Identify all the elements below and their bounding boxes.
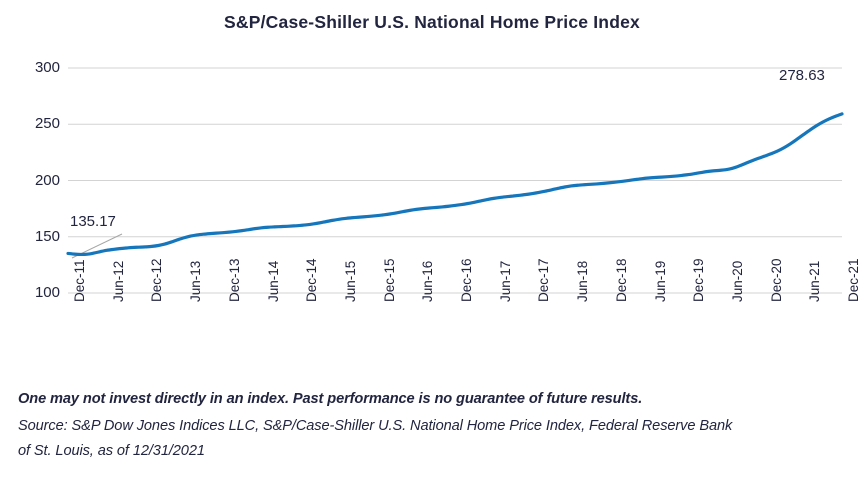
x-axis-tick-label: Dec-17 <box>537 258 551 302</box>
x-axis-tick-label: Jun-13 <box>189 261 203 302</box>
x-axis-tick-label: Dec-12 <box>150 258 164 302</box>
chart-plot-area <box>0 0 864 480</box>
x-axis-tick-label: Dec-11 <box>73 259 87 302</box>
x-axis-tick-label: Jun-18 <box>576 261 590 302</box>
y-axis-tick-label: 150 <box>14 229 60 244</box>
y-axis-tick-label: 200 <box>14 173 60 188</box>
x-axis-tick-label: Jun-20 <box>731 261 745 302</box>
x-axis-tick-label: Jun-14 <box>267 261 281 302</box>
source-text-line-1: Source: S&P Dow Jones Indices LLC, S&P/C… <box>18 418 732 434</box>
source-text-line-2: of St. Louis, as of 12/31/2021 <box>18 443 205 459</box>
x-axis-tick-label: Jun-16 <box>421 261 435 302</box>
end-value-label: 278.63 <box>779 68 825 83</box>
x-axis-tick-label: Dec-18 <box>615 258 629 302</box>
start-value-label: 135.17 <box>70 214 116 229</box>
y-axis-tick-label: 100 <box>14 285 60 300</box>
x-axis-tick-label: Jun-12 <box>112 261 126 302</box>
x-axis-tick-label: Jun-15 <box>344 261 358 302</box>
x-axis-tick-label: Dec-13 <box>228 258 242 302</box>
x-axis-tick-label: Jun-17 <box>499 261 513 302</box>
y-axis-tick-label: 300 <box>14 60 60 75</box>
x-axis-tick-label: Dec-15 <box>383 258 397 302</box>
x-axis-tick-label: Dec-16 <box>460 258 474 302</box>
y-axis-tick-label: 250 <box>14 116 60 131</box>
x-axis-tick-label: Dec-19 <box>692 258 706 302</box>
disclaimer-text: One may not invest directly in an index.… <box>18 391 642 407</box>
x-axis-tick-label: Jun-21 <box>808 261 822 302</box>
chart-container: S&P/Case-Shiller U.S. National Home Pric… <box>0 0 864 480</box>
price-index-line <box>68 114 842 255</box>
x-axis-tick-label: Dec-20 <box>770 258 784 302</box>
gridlines <box>68 68 842 293</box>
x-axis-tick-label: Jun-19 <box>654 261 668 302</box>
x-axis-tick-label: Dec-21 <box>847 258 861 302</box>
x-axis-tick-label: Dec-14 <box>305 258 319 302</box>
